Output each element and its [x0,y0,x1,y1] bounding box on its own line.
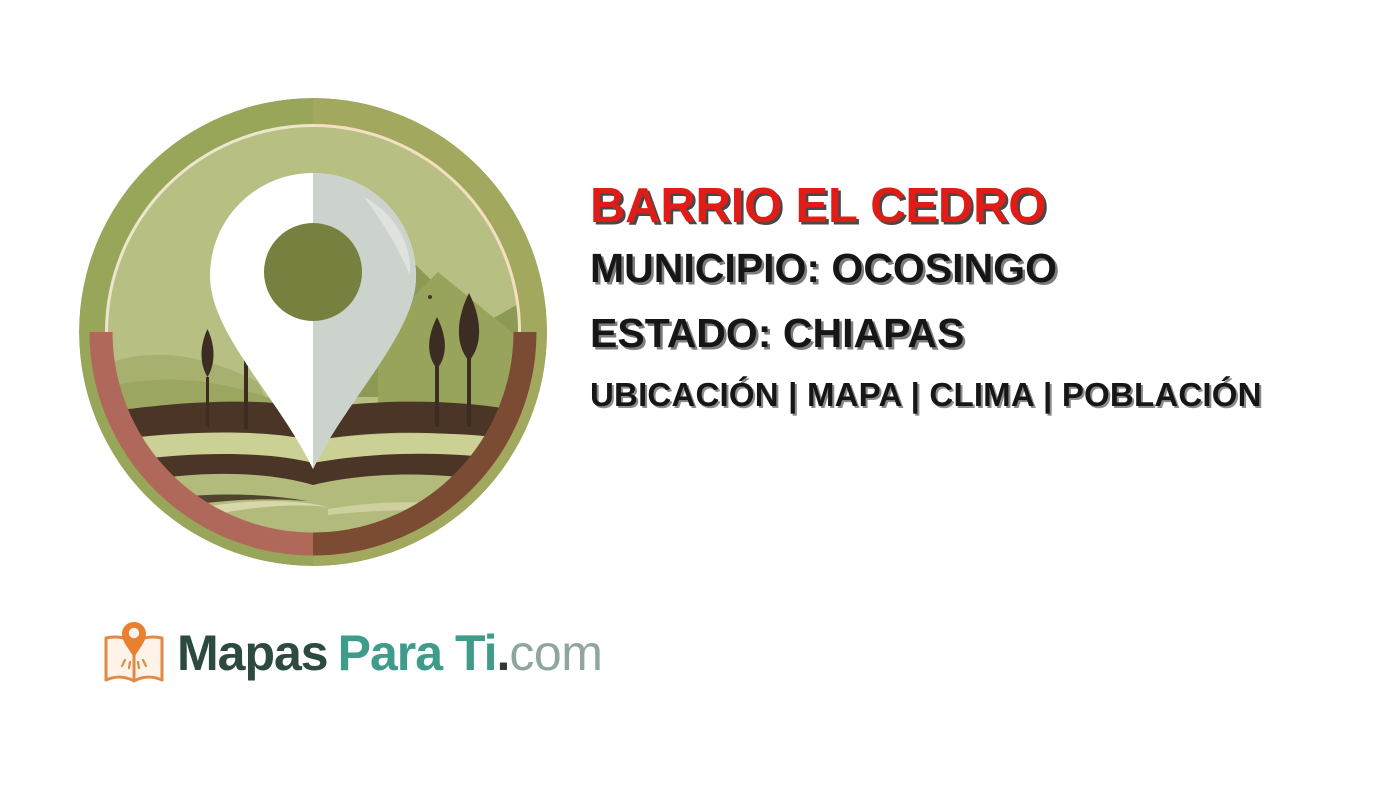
estado-line: ESTADO: CHIAPAS [590,313,1390,354]
location-info-block: BARRIO EL CEDRO MUNICIPIO: OCOSINGO ESTA… [590,182,1390,411]
brand-logo[interactable]: Mapas Para Ti . com [103,620,602,686]
brand-text-dot: . [496,628,509,678]
section-nav-line: UBICACIÓN | MAPA | CLIMA | POBLACIÓN [590,378,1390,411]
open-book-pin-icon [103,620,165,686]
badge-disc [78,97,548,567]
badge-illustration-svg [78,97,548,567]
brand-text-com: com [509,628,602,678]
speck-detail [428,295,432,299]
brand-wordmark: Mapas Para Ti . com [177,628,602,678]
brand-text-parati: Para Ti [328,628,497,678]
page-title: BARRIO EL CEDRO [590,182,1390,231]
municipio-line: MUNICIPIO: OCOSINGO [590,248,1390,289]
map-pin-landscape-badge [78,97,548,567]
page-root: BARRIO EL CEDRO MUNICIPIO: OCOSINGO ESTA… [0,0,1400,786]
brand-text-mapas: Mapas [177,628,328,678]
